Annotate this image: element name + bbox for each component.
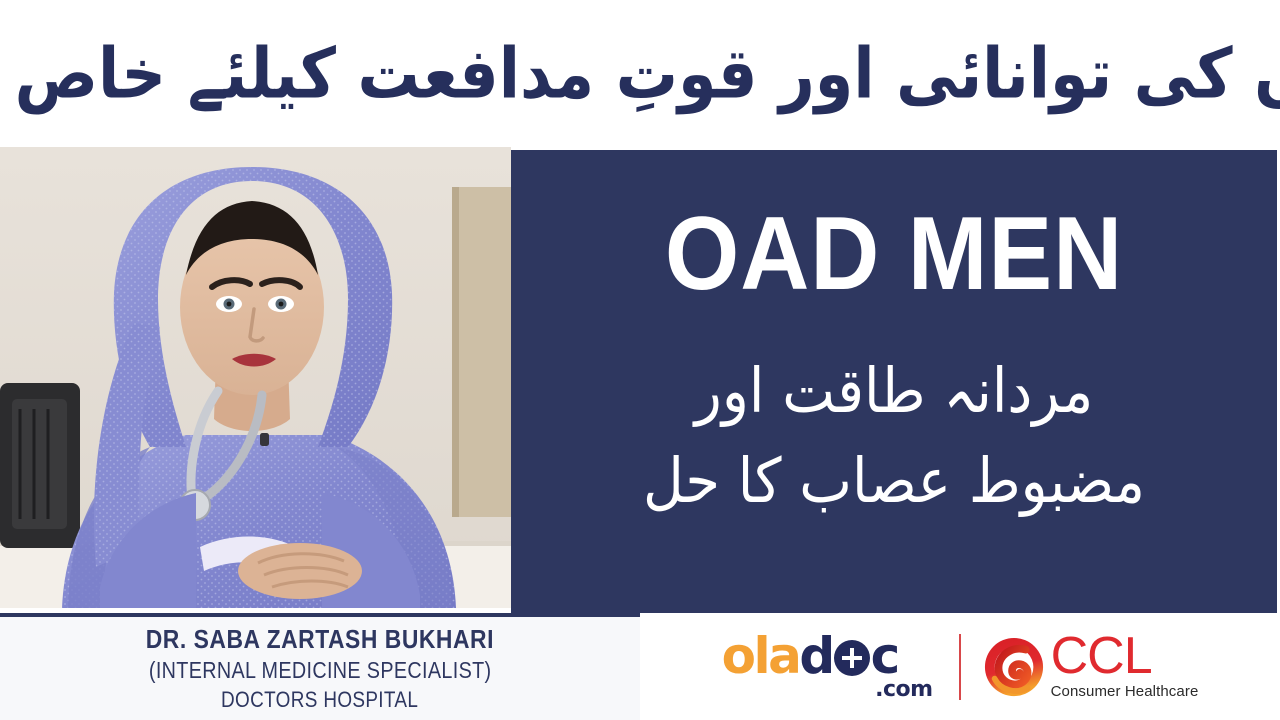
ccl-wordmark: CCL (1051, 633, 1152, 681)
product-urdu-line-2: مضبوط عصاب کا حل (643, 447, 1145, 518)
product-title: OAD MEN (665, 202, 1123, 306)
oladoc-ola-text: ola (722, 631, 800, 681)
ccl-spiral-icon (983, 636, 1045, 698)
doctor-name: DR. SABA ZARTASH BUKHARI (146, 625, 494, 654)
headline-urdu-text: مردوں کی توانائی اور قوتِ مدافعت کیلئے خ… (0, 37, 1280, 110)
ccl-logo: CCL Consumer Healthcare (983, 629, 1199, 705)
logo-divider (959, 634, 961, 700)
video-thumbnail: مردوں کی توانائی اور قوتِ مدافعت کیلئے خ… (0, 0, 1280, 720)
product-panel: OAD MEN مردانہ طاقت اور مضبوط عصاب کا حل (511, 147, 1280, 613)
oladoc-domain-suffix: .com (875, 677, 932, 702)
doctor-specialty: (INTERNAL MEDICINE SPECIALIST) (149, 657, 492, 685)
oladoc-wordmark: oladc (722, 631, 898, 681)
product-urdu-line-1: مردانہ طاقت اور (695, 357, 1093, 428)
oladoc-logo: oladc .com (722, 629, 937, 705)
doctor-photo-illustration (0, 147, 511, 608)
oladoc-d-text: d (799, 631, 832, 681)
ccl-tagline: Consumer Healthcare (1051, 683, 1199, 700)
plus-icon (834, 640, 870, 676)
logo-row: oladc .com (640, 613, 1280, 720)
doctor-photo (0, 147, 511, 608)
ccl-text-block: CCL Consumer Healthcare (1051, 633, 1199, 700)
headline-band: مردوں کی توانائی اور قوتِ مدافعت کیلئے خ… (0, 0, 1280, 147)
doctor-credentials: DR. SABA ZARTASH BUKHARI (INTERNAL MEDIC… (0, 613, 640, 720)
bottom-bar: DR. SABA ZARTASH BUKHARI (INTERNAL MEDIC… (0, 613, 1280, 720)
doctor-hospital: DOCTORS HOSPITAL (221, 687, 418, 713)
oladoc-c-text: c (871, 631, 898, 681)
